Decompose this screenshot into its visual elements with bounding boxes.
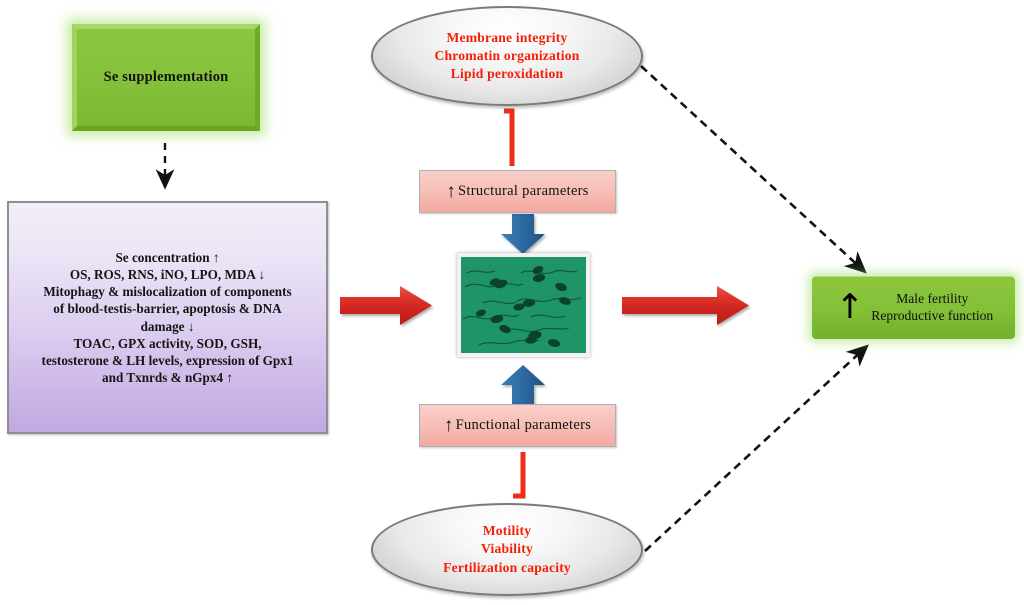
male-fertility-box: ↑ Male fertility Reproductive function — [812, 276, 1015, 339]
red-arrow-sperm-to-fertility — [622, 286, 749, 325]
functional-parameters-ellipse: Motility Viability Fertilization capacit… — [371, 503, 643, 596]
se-effects-text: Se concentration ↑ OS, ROS, RNS, iNO, LP… — [38, 249, 298, 386]
male-fertility-inner: ↑ Male fertility Reproductive function — [834, 291, 993, 325]
functional-parameters-label: Functional parameters — [456, 417, 592, 434]
dashed-arrow-structural-to-fertility — [641, 66, 864, 271]
dashed-arrow-functional-to-fertility — [645, 347, 866, 551]
male-fertility-label: Male fertility Reproductive function — [871, 291, 993, 325]
sperm-micrograph-image — [457, 253, 590, 357]
structural-parameters-label-group: ↑ Structural parameters — [446, 182, 589, 201]
red-connector-functional — [513, 452, 523, 496]
red-arrow-effects-to-sperm — [340, 286, 432, 325]
functional-parameters-box: ↑ Functional parameters — [419, 404, 616, 447]
structural-parameters-label: Structural parameters — [458, 183, 589, 200]
se-supplementation-label: Se supplementation — [104, 69, 229, 86]
up-arrow-icon: ↑ — [836, 296, 865, 320]
up-arrow-icon: ↑ — [446, 182, 456, 201]
structural-parameters-ellipse-text: Membrane integrity Chromatin organizatio… — [435, 29, 580, 83]
se-effects-box: Se concentration ↑ OS, ROS, RNS, iNO, LP… — [7, 201, 328, 434]
structural-parameters-box: ↑ Structural parameters — [419, 170, 616, 213]
blue-arrow-functional-to-sperm — [501, 365, 545, 404]
se-supplementation-box: Se supplementation — [72, 24, 260, 131]
up-arrow-icon: ↑ — [444, 416, 454, 435]
structural-parameters-ellipse: Membrane integrity Chromatin organizatio… — [371, 6, 643, 106]
sperm-illustration — [461, 257, 586, 353]
blue-arrow-structural-to-sperm — [501, 214, 545, 254]
functional-parameters-ellipse-text: Motility Viability Fertilization capacit… — [443, 522, 571, 576]
functional-parameters-label-group: ↑ Functional parameters — [444, 416, 591, 435]
red-connector-structural — [504, 111, 512, 166]
